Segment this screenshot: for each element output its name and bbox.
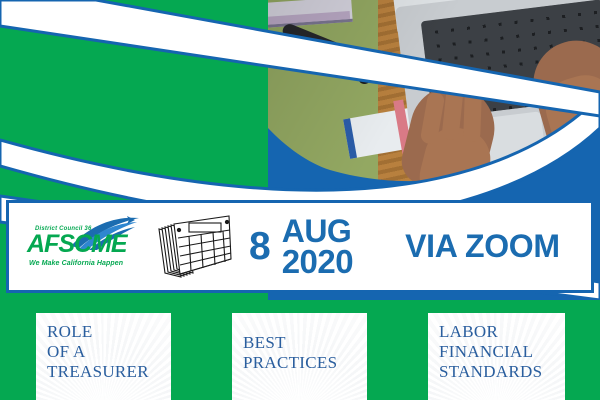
event-year: 2020 bbox=[282, 246, 353, 277]
topic-line: ROLE bbox=[47, 322, 171, 342]
topic-card-text: BEST PRACTICES bbox=[232, 313, 367, 373]
event-banner: District Council 36 AFSCME We Make Calif… bbox=[6, 200, 594, 293]
afscme-tagline: We Make California Happen bbox=[29, 260, 123, 267]
topic-line: STANDARDS bbox=[439, 362, 565, 382]
topic-card-text: ROLE OF A TREASURER bbox=[36, 313, 171, 382]
topic-card[interactable]: ROLE OF A TREASURER bbox=[36, 313, 171, 400]
topic-card[interactable]: LABOR FINANCIAL STANDARDS bbox=[428, 313, 565, 400]
topic-line: PRACTICES bbox=[243, 353, 367, 373]
event-month: AUG bbox=[282, 216, 353, 246]
topic-card[interactable]: BEST PRACTICES bbox=[232, 313, 367, 400]
desk-calendar-icon bbox=[151, 211, 237, 283]
topic-line: FINANCIAL bbox=[439, 342, 565, 362]
event-date: 8 AUG 2020 bbox=[249, 216, 353, 278]
topic-line: OF A bbox=[47, 342, 171, 362]
afscme-name: AFSCME bbox=[27, 232, 127, 257]
topic-card-text: LABOR FINANCIAL STANDARDS bbox=[428, 313, 565, 382]
event-location: VIA ZOOM bbox=[405, 228, 560, 265]
topic-cards: ROLE OF A TREASURER BEST PRACTICES LABOR… bbox=[0, 313, 600, 400]
event-day: 8 bbox=[249, 227, 271, 266]
topic-line: BEST bbox=[243, 333, 367, 353]
topic-line: TREASURER bbox=[47, 362, 171, 382]
topic-line: LABOR bbox=[439, 322, 565, 342]
afscme-logo: District Council 36 AFSCME We Make Calif… bbox=[23, 216, 141, 278]
poster-canvas: District Council 36 AFSCME We Make Calif… bbox=[0, 0, 600, 400]
event-month-year: AUG 2020 bbox=[282, 216, 353, 278]
